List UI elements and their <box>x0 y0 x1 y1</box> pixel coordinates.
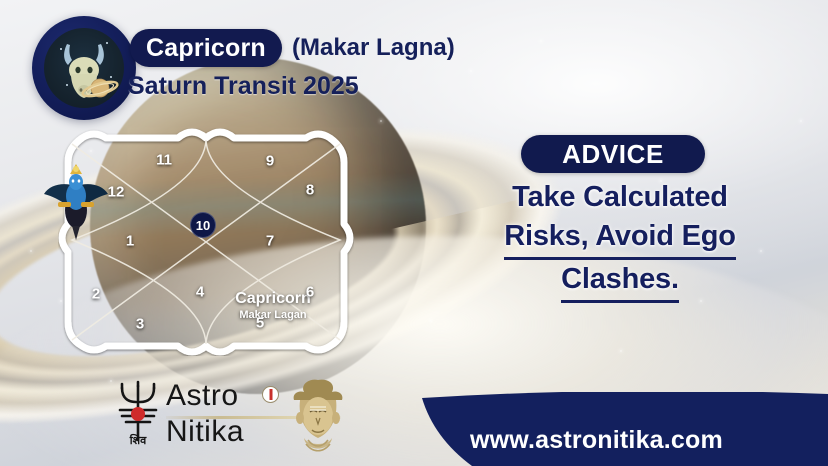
poster-canvas: Capricorn (Makar Lagna) Saturn Transit 2… <box>0 0 828 466</box>
header-sign-pill: Capricorn <box>130 29 282 67</box>
advice-heading-label: ADVICE <box>562 139 664 170</box>
saturn-icon <box>80 74 120 102</box>
lagna-house-badge: 10 <box>190 212 216 238</box>
advice-heading-pill: ADVICE <box>521 135 705 173</box>
advice-text-block: Take Calculated Risks, Avoid Ego Clashes… <box>455 178 785 303</box>
trishul-icon: शिव <box>108 380 168 448</box>
website-url: www.astronitika.com <box>470 426 723 455</box>
shani-deity-icon <box>42 156 110 244</box>
brand-devanagari: शिव <box>129 433 147 447</box>
header-sign-sub: (Makar Lagna) <box>292 34 455 62</box>
header-subtitle: Saturn Transit 2025 <box>128 72 359 101</box>
advice-line-3: Clashes. <box>561 260 679 303</box>
header-sign-label: Capricorn <box>146 34 266 63</box>
badge-inner <box>44 28 124 108</box>
advice-line-1: Take Calculated <box>455 178 785 217</box>
advice-line-2: Risks, Avoid Ego <box>504 217 736 260</box>
shiva-face-icon <box>280 376 356 454</box>
capricorn-badge <box>32 16 136 120</box>
lagna-house-number: 10 <box>196 218 210 233</box>
brand-emblem-icon <box>262 386 279 403</box>
brand-logo[interactable]: शिव Astro Nitika <box>104 376 354 454</box>
